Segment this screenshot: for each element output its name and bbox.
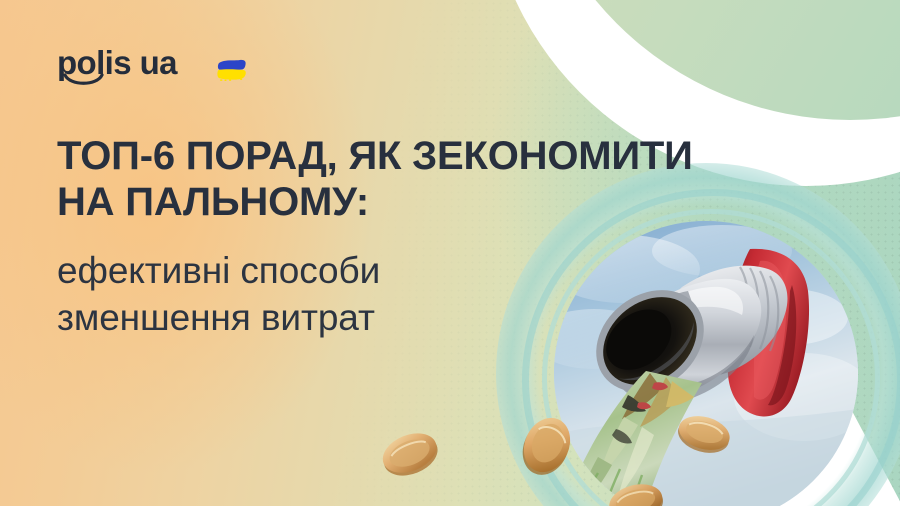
coin-left xyxy=(374,422,446,485)
coin-right xyxy=(672,407,737,461)
coin-center xyxy=(511,406,584,484)
headline: ТОП-6 ПОРАД, ЯК ЗЕКОНОМИТИ НА ПАЛЬНОМУ: xyxy=(57,133,597,225)
logo-wordmark: polis ua xyxy=(57,46,205,92)
subheadline-line-1: ефективні способи xyxy=(57,247,597,294)
ukraine-flag-brushstroke-icon xyxy=(216,58,248,82)
subheadline-line-2: зменшення витрат xyxy=(57,294,597,341)
smile-curve-icon xyxy=(63,73,104,89)
headline-line-2: НА ПАЛЬНОМУ: xyxy=(57,179,597,225)
headline-line-1: ТОП-6 ПОРАД, ЯК ЗЕКОНОМИТИ xyxy=(57,133,597,179)
crescent-cutout-shape xyxy=(520,0,900,120)
brand-logo[interactable]: polis ua xyxy=(57,46,248,92)
fuel-nozzle-illustration xyxy=(554,221,858,506)
white-corner-wedge xyxy=(653,352,900,506)
copy-block: ТОП-6 ПОРАД, ЯК ЗЕКОНОМИТИ НА ПАЛЬНОМУ: … xyxy=(57,133,597,342)
coin-bottom-mid xyxy=(603,476,669,506)
promo-banner: polis ua ТОП-6 ПОРАД, ЯК ЗЕКОНОМИТИ НА П… xyxy=(0,0,900,506)
subheadline: ефективні способи зменшення витрат xyxy=(57,247,597,342)
